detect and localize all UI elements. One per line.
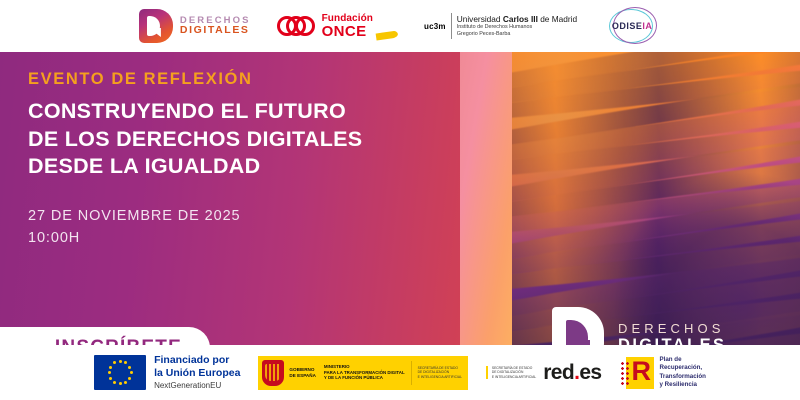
headline-line-3: DESDE LA IGUALDAD xyxy=(28,153,448,181)
hero-banner: EVENTO DE REFLEXIÓN CONSTRUYENDO EL FUTU… xyxy=(0,52,800,345)
financiado-union-europea-logo: Financiado por la Unión Europea NextGene… xyxy=(94,354,240,390)
derechos-digitales-mark-icon xyxy=(139,9,173,43)
uc3m-sub1: Instituto de Derechos Humanos xyxy=(457,24,577,31)
prtr-line2: Recuperación, xyxy=(660,364,706,372)
prtr-line1: Plan de xyxy=(660,356,706,364)
footer-logo-bar: Financiado por la Unión Europea NextGene… xyxy=(0,345,800,400)
hero-copy: EVENTO DE REFLEXIÓN CONSTRUYENDO EL FUTU… xyxy=(28,70,448,249)
gob-sec-line3: E INTELIGENCIA ARTIFICIAL xyxy=(418,375,462,379)
eu-flag-icon xyxy=(94,355,146,390)
prtr-mark-icon: R xyxy=(620,357,654,389)
red-es-wordmark: red.es xyxy=(543,361,601,385)
register-button-label: INSCRÍBETE xyxy=(55,337,182,345)
once-line1: Fundación xyxy=(322,14,373,24)
event-kicker: EVENTO DE REFLEXIÓN xyxy=(28,70,448,89)
headline-line-2: DE LOS DERECHOS DIGITALES xyxy=(28,126,448,154)
uc3m-sub2: Gregorio Peces-Barba xyxy=(457,31,577,38)
prtr-line3: Transformación xyxy=(660,373,706,381)
prtr-line4: y Resiliencia xyxy=(660,381,706,389)
event-time: 10:00H xyxy=(28,227,448,249)
dd-logo-line2: DIGITALES xyxy=(180,25,251,36)
uc3m-divider xyxy=(451,13,452,39)
hero-architecture-photo xyxy=(512,52,800,345)
hero-gradient-band xyxy=(460,52,520,345)
uc3m-title: Universidad Carlos III de Madrid xyxy=(457,14,577,24)
overlay-logo-line2: DIGITALES xyxy=(618,336,726,345)
odiseia-wordmark: ODISEIA xyxy=(612,21,653,31)
page-title: CONSTRUYENDO EL FUTURO DE LOS DERECHOS D… xyxy=(28,98,448,181)
event-datetime: 27 DE NOVIEMBRE DE 2025 10:00H xyxy=(28,205,448,250)
eu-line1: Financiado por xyxy=(154,354,240,366)
derechos-digitales-logo: DERECHOS DIGITALES xyxy=(139,9,251,43)
eu-line3: NextGenerationEU xyxy=(154,381,240,390)
red-es-sec-line3: E INTELIGENCIA ARTIFICIAL xyxy=(492,375,536,379)
top-logo-bar: DERECHOS DIGITALES Fundación ONCE uc3m U… xyxy=(0,0,800,52)
prtr-letter: R xyxy=(632,359,652,385)
derechos-digitales-white-mark-icon xyxy=(552,307,604,345)
plan-recuperacion-logo: R Plan de Recuperación, Transformación y… xyxy=(620,356,706,388)
overlay-logo-line1: DERECHOS xyxy=(618,322,726,336)
event-banner-page: DERECHOS DIGITALES Fundación ONCE uc3m U… xyxy=(0,0,800,400)
red-es-logo: SECRETARÍA DE ESTADO DE DIGITALIZACIÓN E… xyxy=(486,361,602,385)
eu-line2: la Unión Europea xyxy=(154,367,240,379)
gob-divider xyxy=(411,361,412,385)
register-button[interactable]: INSCRÍBETE xyxy=(0,327,210,345)
uc3m-tag: uc3m xyxy=(424,22,446,31)
spain-coat-of-arms-icon xyxy=(262,360,284,386)
fundacion-once-logo: Fundación ONCE xyxy=(277,14,398,39)
red-es-secretaria-text: SECRETARÍA DE ESTADO DE DIGITALIZACIÓN E… xyxy=(486,366,536,379)
uc3m-logo: uc3m Universidad Carlos III de Madrid In… xyxy=(424,13,577,39)
ministerio-line3: Y DE LA FUNCIÓN PÚBLICA xyxy=(324,375,405,381)
once-swish-icon xyxy=(376,30,399,40)
event-date: 27 DE NOVIEMBRE DE 2025 xyxy=(28,205,448,227)
gob-line2: DE ESPAÑA xyxy=(289,373,315,379)
derechos-digitales-overlay-logo: DERECHOS DIGITALES xyxy=(552,307,726,345)
once-rings-icon xyxy=(277,14,317,38)
odiseia-logo: ODISEIA xyxy=(603,6,661,46)
gobierno-de-espana-logo: GOBIERNO DE ESPAÑA MINISTERIO PARA LA TR… xyxy=(258,356,467,390)
once-line2: ONCE xyxy=(322,24,373,39)
headline-line-1: CONSTRUYENDO EL FUTURO xyxy=(28,98,448,126)
